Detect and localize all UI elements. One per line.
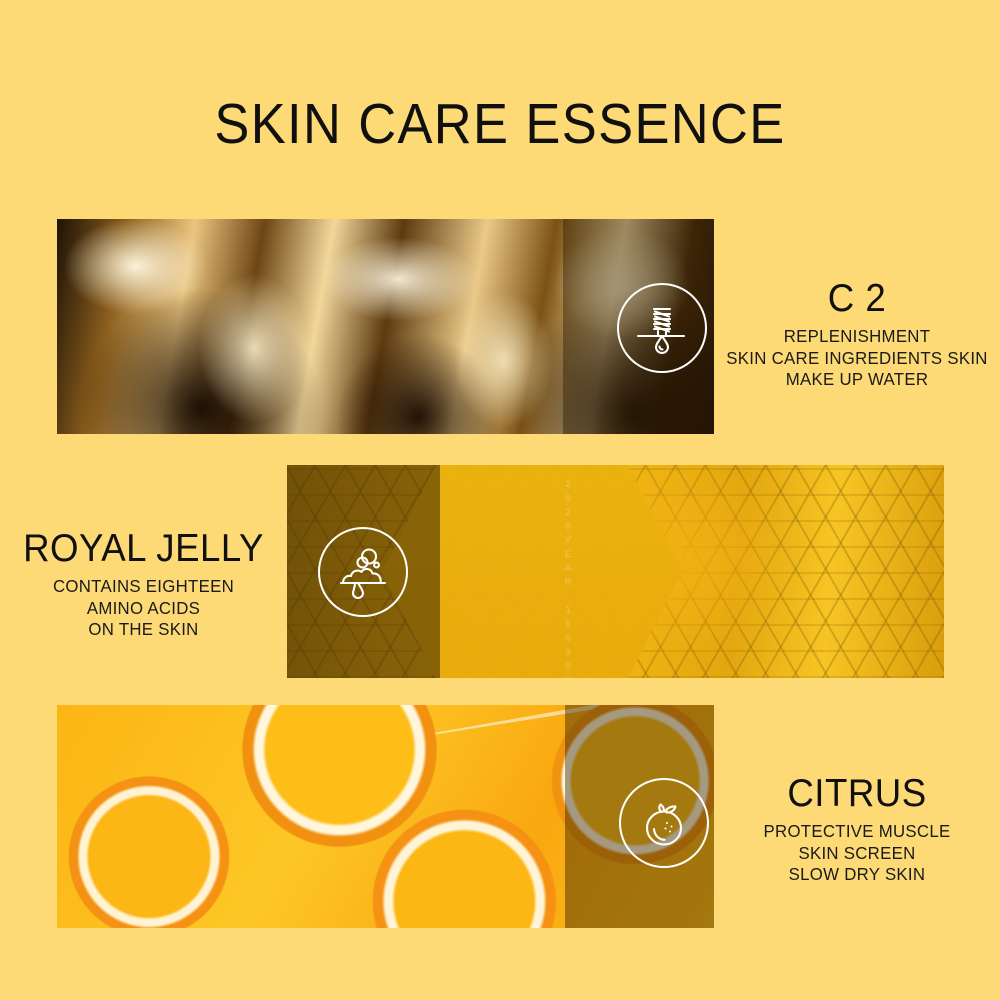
section-line: REPLENISHMENT [720,326,995,348]
section-text-royal-jelly: ROYAL JELLY CONTAINS EIGHTEEN AMINO ACID… [0,527,287,641]
section-line: AMINO ACIDS [6,598,282,620]
section-image-citrus [57,705,714,928]
section-line: MAKE UP WATER [720,369,995,391]
page-title: SKIN CARE ESSENCE [40,93,960,155]
section-lines-citrus: PROTECTIVE MUSCLE SKIN SCREEN SLOW DRY S… [714,821,1000,886]
section-lines-royal-jelly: CONTAINS EIGHTEEN AMINO ACIDS ON THE SKI… [0,576,287,641]
section-image-royal-jelly: 2020YEAR.160900.COM [287,465,944,678]
section-line: SKIN SCREEN [720,843,995,865]
foam-bubbles-icon [318,527,408,617]
section-line: ON THE SKIN [6,619,282,641]
section-line: CONTAINS EIGHTEEN [6,576,282,598]
orange-fruit-icon [619,778,709,868]
image-watermark: 2020YEAR.160900.COM [559,479,573,659]
section-image-c2 [57,219,714,434]
section-text-citrus: CITRUS PROTECTIVE MUSCLE SKIN SCREEN SLO… [714,772,1000,886]
section-line: SLOW DRY SKIN [720,864,995,886]
section-heading-royal-jelly: ROYAL JELLY [9,527,279,570]
section-line: PROTECTIVE MUSCLE [720,821,995,843]
poster-canvas: SKIN CARE ESSENCE C 2 REPLENISHMENT SKIN… [0,0,1000,1000]
section-lines-c2: REPLENISHMENT SKIN CARE INGREDIENTS SKIN… [714,326,1000,391]
section-heading-c2: C 2 [723,277,992,320]
section-text-c2: C 2 REPLENISHMENT SKIN CARE INGREDIENTS … [714,277,1000,391]
dropper-icon [617,283,707,373]
section-line: SKIN CARE INGREDIENTS SKIN [720,348,995,370]
section-heading-citrus: CITRUS [723,772,992,815]
